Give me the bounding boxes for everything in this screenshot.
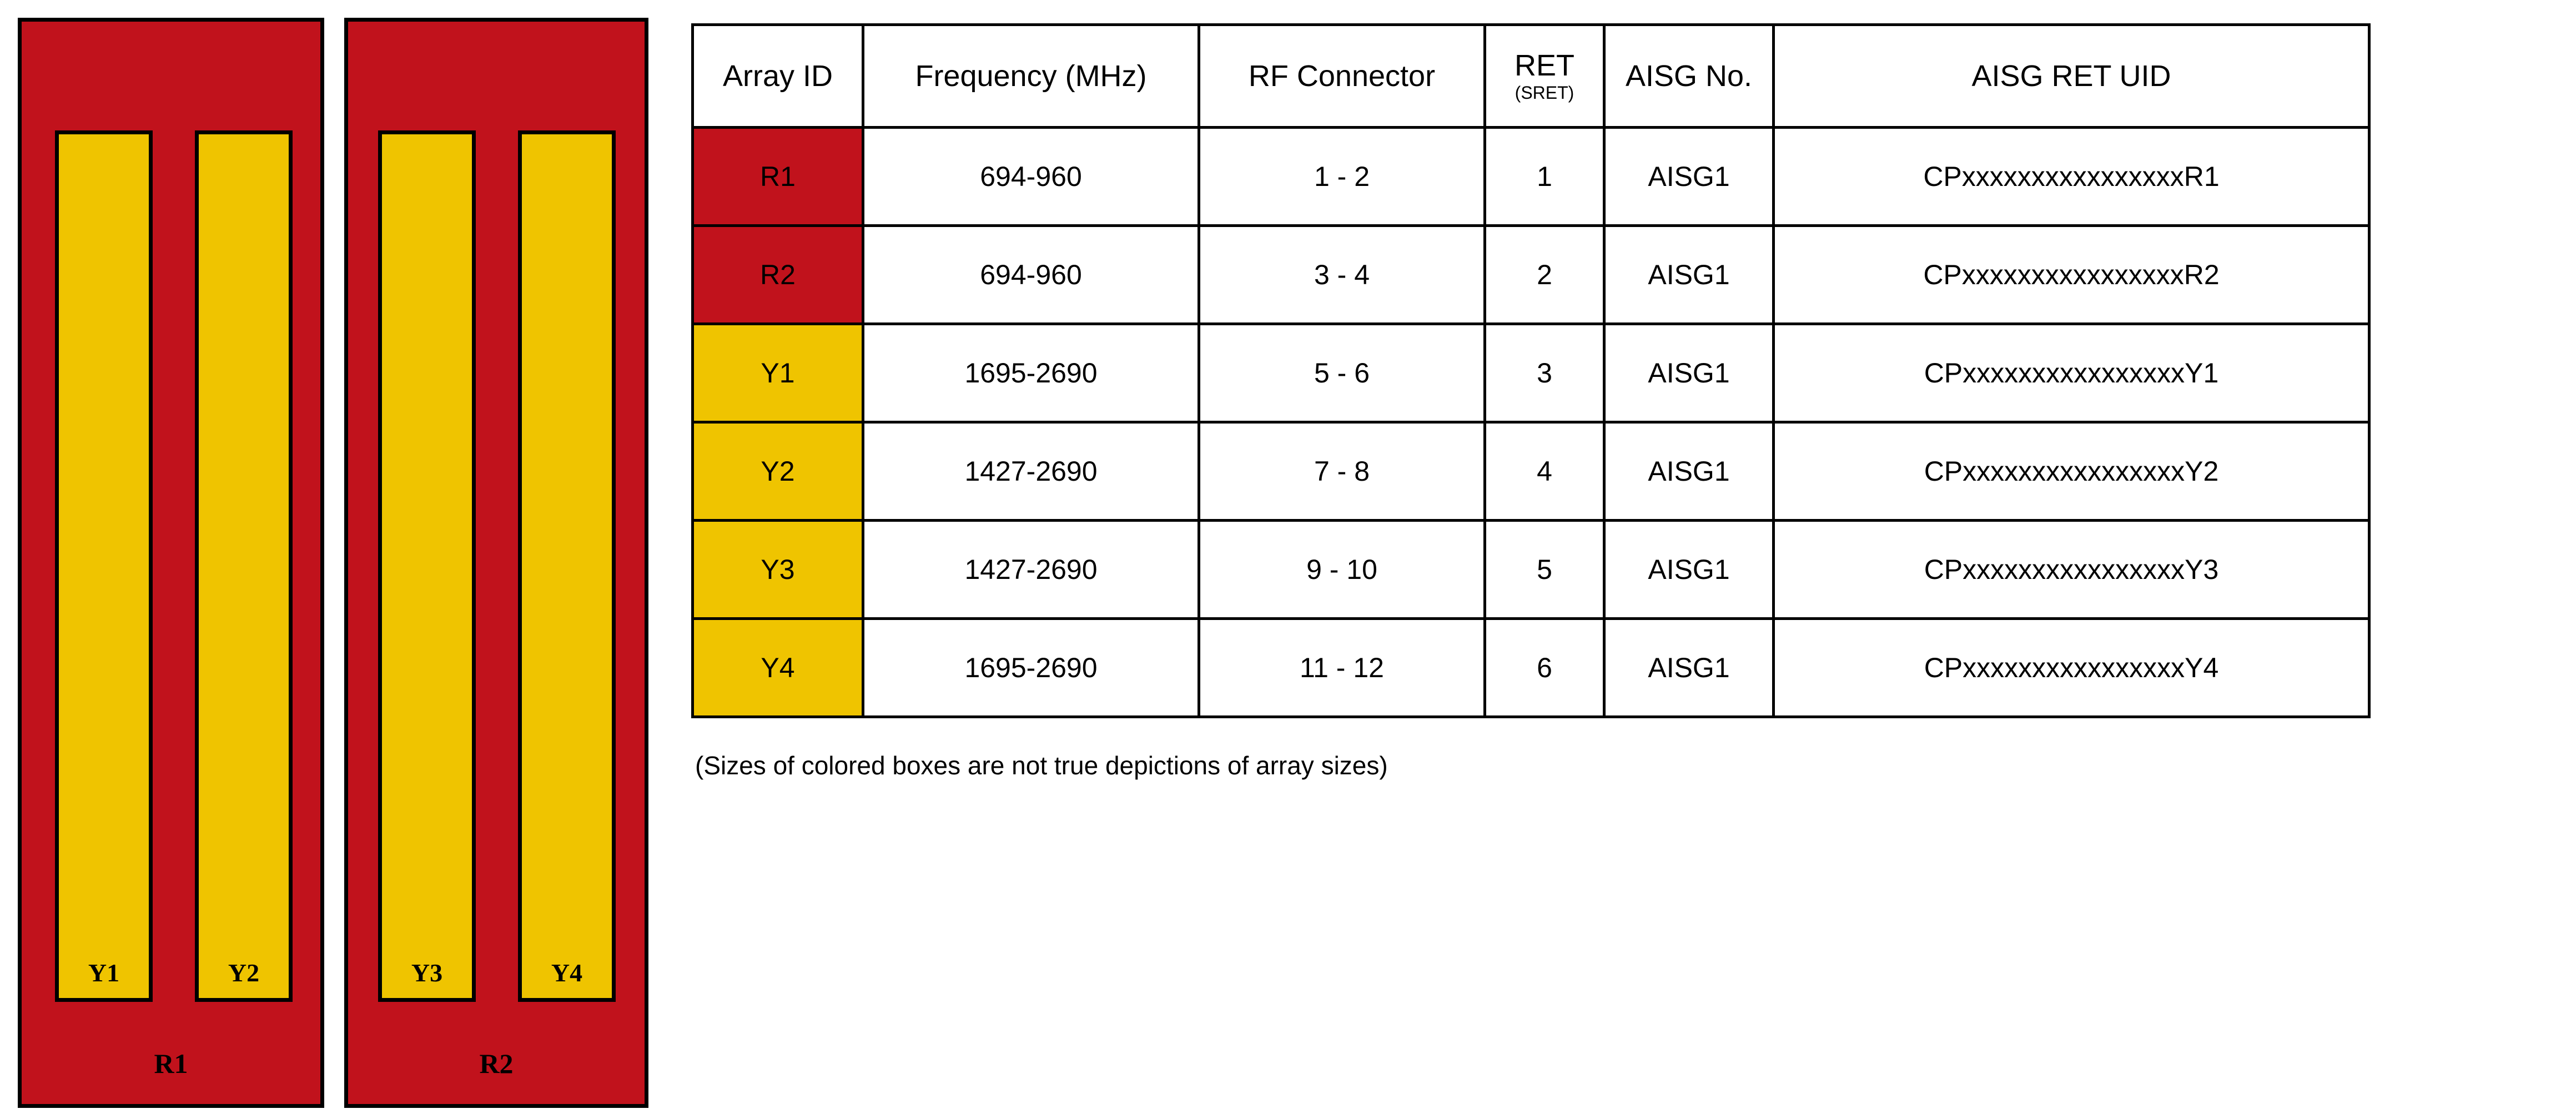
cell-rf-connector: 7 - 8 [1199,422,1485,521]
cell-ret: 1 [1485,128,1604,226]
subarray-label-y4: Y4 [522,960,612,986]
array-spec-table-wrapper: Array ID Frequency (MHz) RF Connector RE… [691,23,2371,718]
table-body: R1694-9601 - 21AISG1CPxxxxxxxxxxxxxxxxR1… [693,128,2369,717]
cell-frequency: 694-960 [863,226,1199,324]
subarray-label-y1: Y1 [59,960,149,986]
cell-aisg-no: AISG1 [1604,324,1774,422]
column-header-rf-connector: RF Connector [1199,25,1485,128]
array-spec-table: Array ID Frequency (MHz) RF Connector RE… [691,23,2371,718]
cell-array-id: R1 [693,128,863,226]
cell-frequency: 694-960 [863,128,1199,226]
cell-frequency: 1695-2690 [863,324,1199,422]
column-header-frequency: Frequency (MHz) [863,25,1199,128]
subarray-box-y2: Y2 [195,130,293,1002]
cell-array-id: Y3 [693,521,863,619]
array-panel-r2: Y3 Y4 R2 [344,18,648,1108]
column-header-ret-main: RET [1486,51,1603,80]
cell-aisg-ret-uid: CPxxxxxxxxxxxxxxxxY3 [1774,521,2369,619]
table-row: Y11695-26905 - 63AISG1CPxxxxxxxxxxxxxxxx… [693,324,2369,422]
column-header-ret: RET (SRET) [1485,25,1604,128]
cell-rf-connector: 1 - 2 [1199,128,1485,226]
cell-aisg-ret-uid: CPxxxxxxxxxxxxxxxxR2 [1774,226,2369,324]
column-header-aisg-ret-uid: AISG RET UID [1774,25,2369,128]
cell-ret: 6 [1485,619,1604,717]
cell-frequency: 1427-2690 [863,521,1199,619]
cell-array-id: Y4 [693,619,863,717]
cell-aisg-no: AISG1 [1604,226,1774,324]
table-row: R2694-9603 - 42AISG1CPxxxxxxxxxxxxxxxxR2 [693,226,2369,324]
cell-ret: 3 [1485,324,1604,422]
cell-aisg-no: AISG1 [1604,128,1774,226]
diagram-caption: (Sizes of colored boxes are not true dep… [695,750,1388,780]
cell-ret: 2 [1485,226,1604,324]
cell-frequency: 1695-2690 [863,619,1199,717]
antenna-array-diagram: Y1 Y2 R1 Y3 Y4 R2 [0,0,666,1119]
column-header-aisg-no: AISG No. [1604,25,1774,128]
cell-rf-connector: 11 - 12 [1199,619,1485,717]
subarray-label-y3: Y3 [382,960,472,986]
cell-aisg-no: AISG1 [1604,619,1774,717]
cell-ret: 5 [1485,521,1604,619]
array-panel-label-r2: R2 [348,1050,645,1077]
subarray-box-y1: Y1 [55,130,153,1002]
array-panel-label-r1: R1 [22,1050,320,1077]
cell-array-id: Y2 [693,422,863,521]
cell-aisg-ret-uid: CPxxxxxxxxxxxxxxxxY4 [1774,619,2369,717]
table-row: Y21427-26907 - 84AISG1CPxxxxxxxxxxxxxxxx… [693,422,2369,521]
column-header-ret-sub: (SRET) [1486,84,1603,102]
table-row: Y31427-26909 - 105AISG1CPxxxxxxxxxxxxxxx… [693,521,2369,619]
cell-rf-connector: 5 - 6 [1199,324,1485,422]
cell-rf-connector: 3 - 4 [1199,226,1485,324]
cell-aisg-ret-uid: CPxxxxxxxxxxxxxxxxR1 [1774,128,2369,226]
cell-array-id: R2 [693,226,863,324]
table-row: Y41695-269011 - 126AISG1CPxxxxxxxxxxxxxx… [693,619,2369,717]
table-header: Array ID Frequency (MHz) RF Connector RE… [693,25,2369,128]
cell-aisg-ret-uid: CPxxxxxxxxxxxxxxxxY1 [1774,324,2369,422]
table-header-row: Array ID Frequency (MHz) RF Connector RE… [693,25,2369,128]
column-header-array-id: Array ID [693,25,863,128]
array-panel-r1: Y1 Y2 R1 [18,18,324,1108]
cell-aisg-no: AISG1 [1604,422,1774,521]
cell-ret: 4 [1485,422,1604,521]
cell-aisg-ret-uid: CPxxxxxxxxxxxxxxxxY2 [1774,422,2369,521]
cell-array-id: Y1 [693,324,863,422]
cell-frequency: 1427-2690 [863,422,1199,521]
table-row: R1694-9601 - 21AISG1CPxxxxxxxxxxxxxxxxR1 [693,128,2369,226]
subarray-label-y2: Y2 [199,960,289,986]
subarray-box-y3: Y3 [378,130,476,1002]
subarray-box-y4: Y4 [518,130,616,1002]
cell-aisg-no: AISG1 [1604,521,1774,619]
cell-rf-connector: 9 - 10 [1199,521,1485,619]
